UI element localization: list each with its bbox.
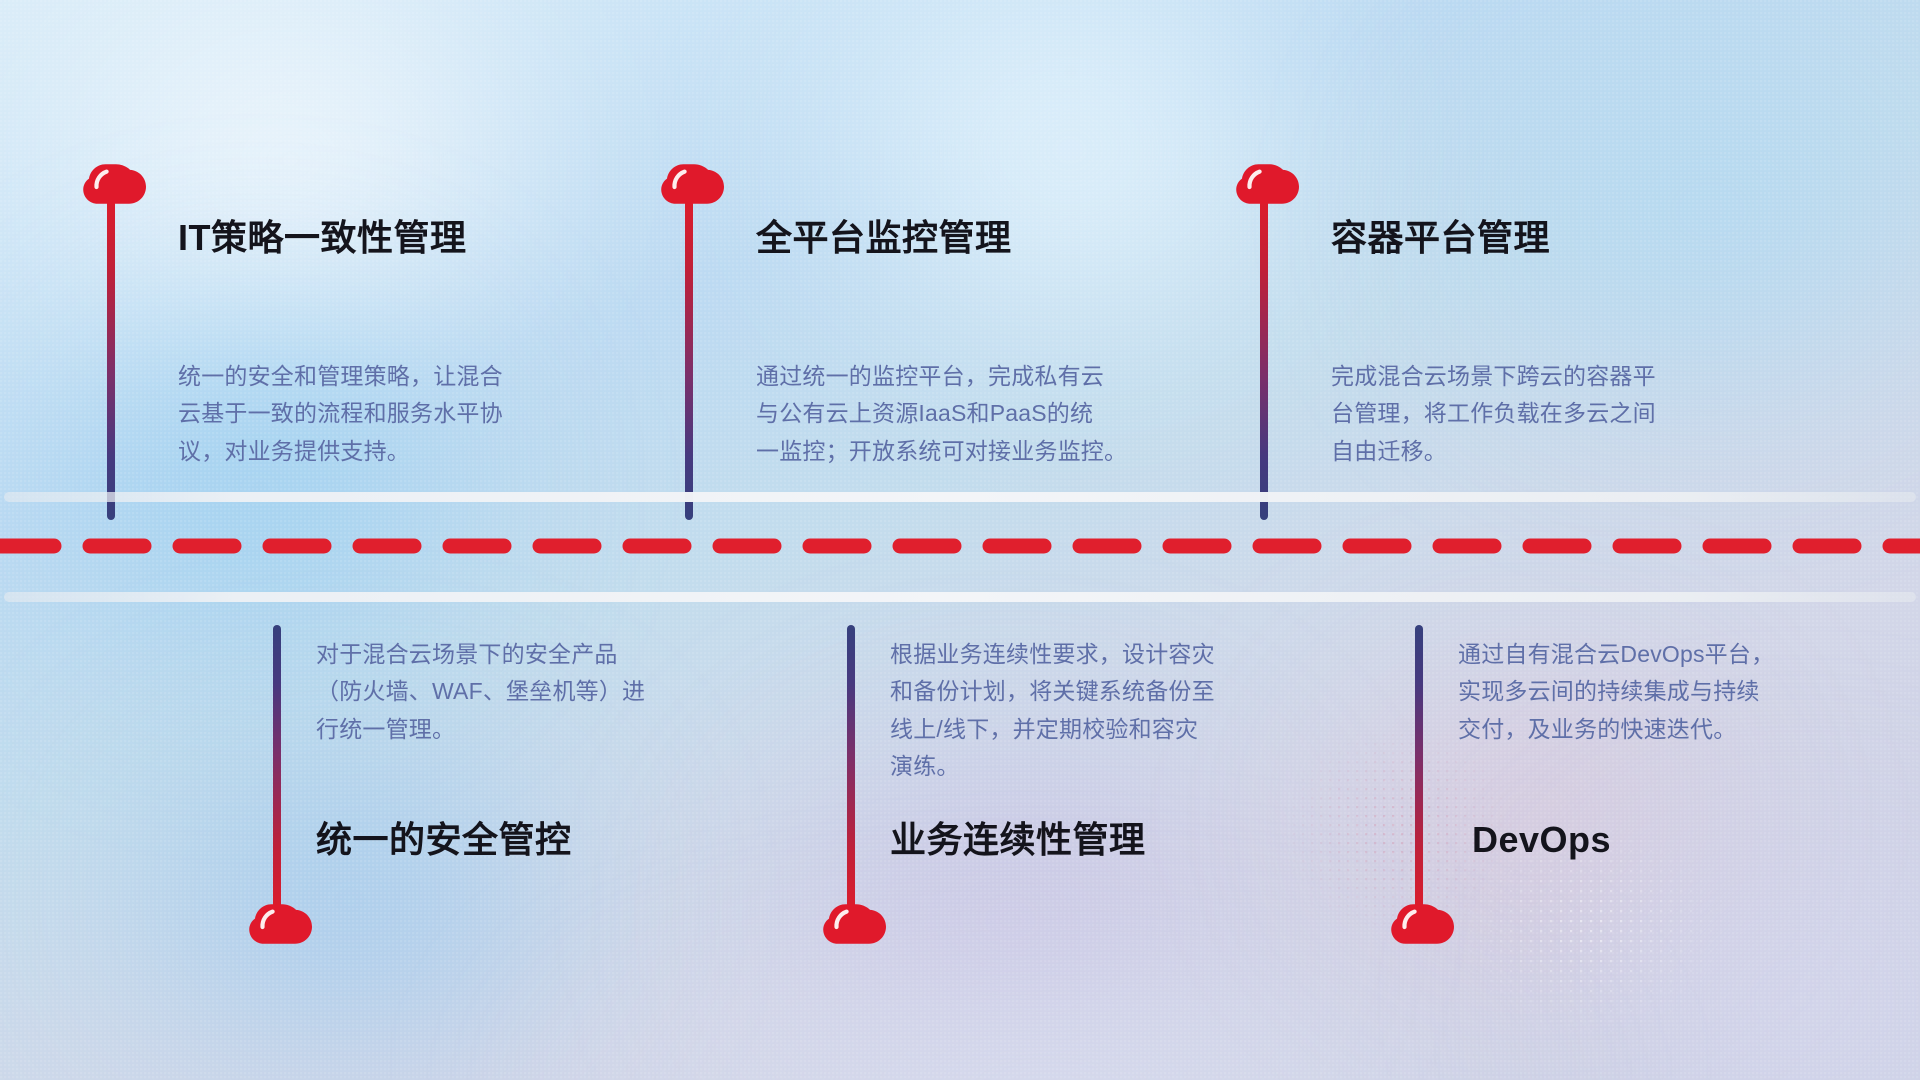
- cloud-icon: [660, 160, 730, 214]
- card-body-text: 对于混合云场景下的安全产品 （防火墙、WAF、堡垒机等）进 行统一管理。: [316, 636, 756, 748]
- card-heading: 全平台监控管理: [756, 218, 1012, 258]
- card-heading: DevOps: [1472, 820, 1611, 860]
- card-body-text: 完成混合云场景下跨云的容器平 台管理，将工作负载在多云之间 自由迁移。: [1331, 358, 1781, 470]
- cloud-icon: [1390, 900, 1460, 954]
- card-heading: IT策略一致性管理: [178, 218, 467, 258]
- cloud-icon: [82, 160, 152, 214]
- card-body-text: 根据业务连续性要求，设计容灾 和备份计划，将关键系统备份至 线上/线下，并定期校…: [890, 636, 1340, 785]
- stem-line-top-1: [107, 200, 115, 520]
- infographic-canvas: IT策略一致性管理 统一的安全和管理策略，让混合 云基于一致的流程和服务水平协 …: [0, 0, 1920, 1080]
- stem-line-bottom-2: [847, 625, 855, 913]
- card-heading: 业务连续性管理: [890, 820, 1146, 860]
- card-body-text: 通过统一的监控平台，完成私有云 与公有云上资源IaaS和PaaS的统 一监控；开…: [756, 358, 1216, 470]
- card-body-text: 通过自有混合云DevOps平台， 实现多云间的持续集成与持续 交付，及业务的快速…: [1458, 636, 1908, 748]
- divider-dashed-line: [0, 538, 1920, 554]
- dashed-road-divider: [0, 492, 1920, 602]
- stem-line-bottom-3: [1415, 625, 1423, 913]
- stem-line-top-2: [685, 200, 693, 520]
- cloud-icon: [1235, 160, 1305, 214]
- cloud-icon: [248, 900, 318, 954]
- stem-line-bottom-1: [273, 625, 281, 913]
- cloud-icon: [822, 900, 892, 954]
- stem-line-top-3: [1260, 200, 1268, 520]
- card-body-text: 统一的安全和管理策略，让混合 云基于一致的流程和服务水平协 议，对业务提供支持。: [178, 358, 618, 470]
- divider-rail-bottom: [4, 592, 1916, 602]
- divider-rail-top: [4, 492, 1916, 502]
- card-heading: 容器平台管理: [1331, 218, 1550, 258]
- card-heading: 统一的安全管控: [316, 820, 572, 860]
